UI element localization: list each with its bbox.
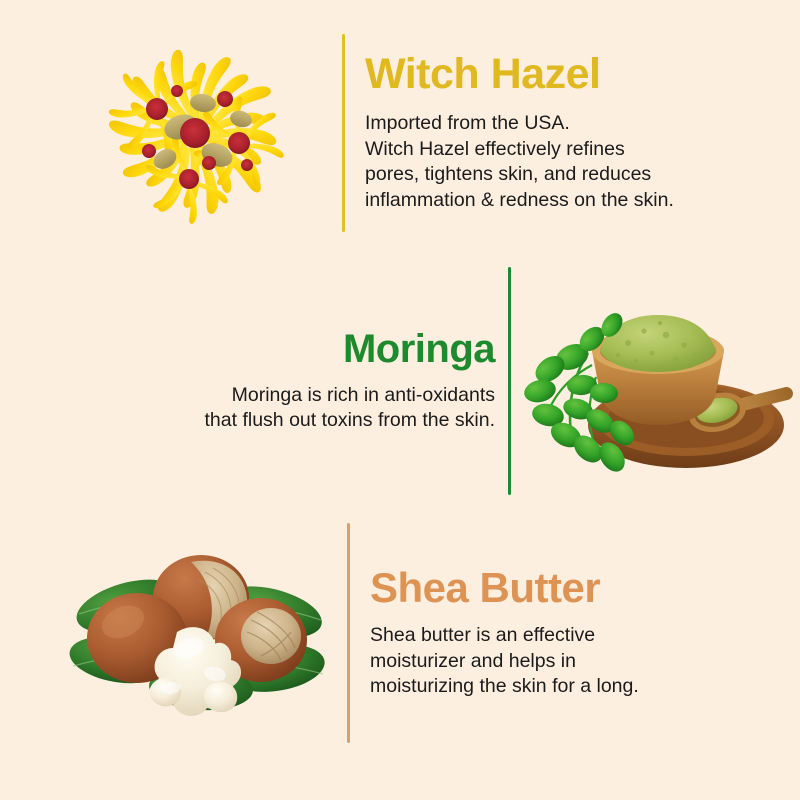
- heading-moringa: Moringa: [75, 328, 495, 370]
- section-witch-hazel: Witch Hazel Imported from the USA. Witch…: [0, 0, 800, 265]
- copy-shea-butter: Shea Butter Shea butter is an effective …: [370, 566, 770, 700]
- description-shea-butter: Shea butter is an effective moisturizer …: [370, 623, 770, 700]
- shea-nuts-butter-image: [65, 528, 335, 738]
- copy-witch-hazel: Witch Hazel Imported from the USA. Witch…: [365, 52, 765, 213]
- divider-witch-hazel: [342, 34, 345, 232]
- witch-hazel-flower-image: [70, 13, 320, 253]
- copy-moringa: Moringa Moringa is rich in anti-oxidants…: [75, 328, 495, 434]
- section-shea-butter: Shea Butter Shea butter is an effective …: [0, 503, 800, 763]
- moringa-powder-image: [526, 273, 791, 488]
- divider-shea-butter: [347, 523, 350, 743]
- description-moringa: Moringa is rich in anti-oxidants that fl…: [75, 383, 495, 434]
- ingredients-infographic: Witch Hazel Imported from the USA. Witch…: [0, 0, 800, 800]
- heading-shea-butter: Shea Butter: [370, 566, 770, 610]
- section-moringa: Moringa Moringa is rich in anti-oxidants…: [0, 258, 800, 503]
- heading-witch-hazel: Witch Hazel: [365, 52, 765, 97]
- divider-moringa: [508, 267, 511, 495]
- description-witch-hazel: Imported from the USA. Witch Hazel effec…: [365, 111, 765, 213]
